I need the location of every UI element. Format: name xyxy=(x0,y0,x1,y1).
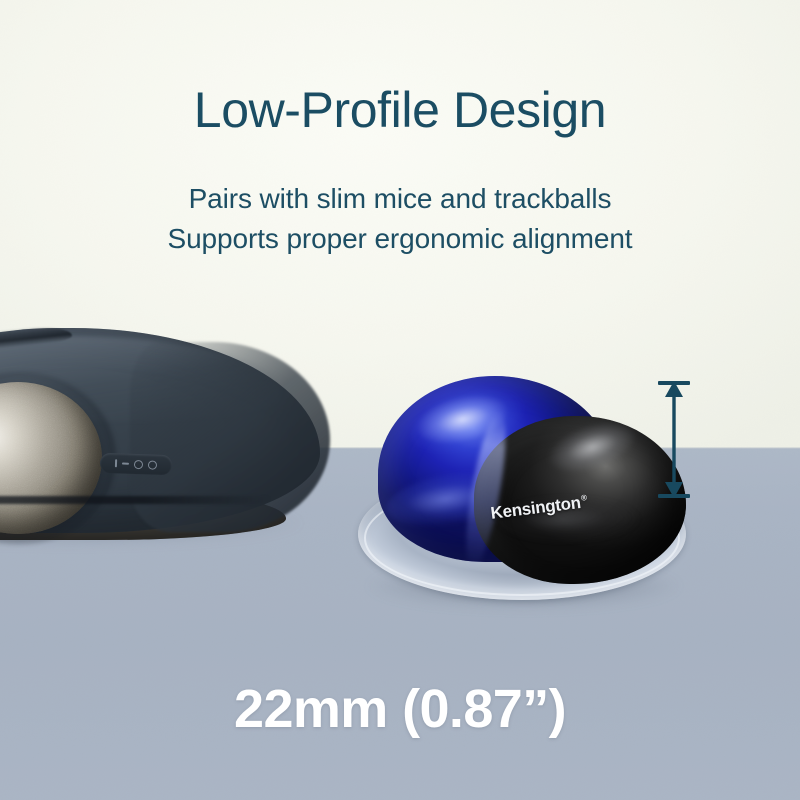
subtitle-line-2: Supports proper ergonomic alignment xyxy=(0,222,800,256)
product-marketing-image: Low-Profile Design Pairs with slim mice … xyxy=(0,0,800,800)
trackball-status-indicator xyxy=(100,453,173,476)
dimension-arrow-icon xyxy=(648,374,700,506)
trackball-base-seam xyxy=(0,496,270,504)
trademark-icon: ® xyxy=(581,493,588,503)
indicator-ring-icon xyxy=(134,459,143,468)
trackball-mouse xyxy=(0,318,340,558)
gel-wrist-rest: Kensington® xyxy=(352,376,692,626)
indicator-ring-2-icon xyxy=(148,460,157,469)
indicator-dash-icon xyxy=(122,463,129,465)
indicator-bar-icon xyxy=(115,459,117,467)
subtitle-line-1: Pairs with slim mice and trackballs xyxy=(0,182,800,216)
dimension-caption: 22mm (0.87”) xyxy=(0,678,800,740)
page-title: Low-Profile Design xyxy=(0,84,800,137)
